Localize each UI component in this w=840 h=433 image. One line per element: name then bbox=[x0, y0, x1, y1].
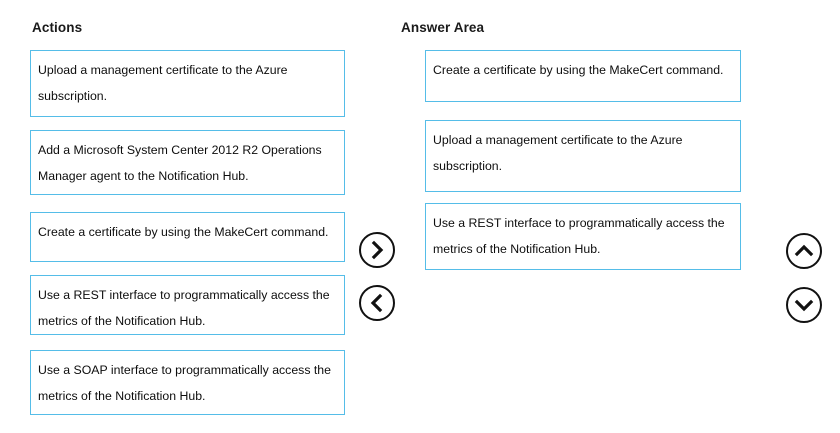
action-text-line: Add a Microsoft System Center 2012 R2 Op… bbox=[38, 137, 337, 163]
answer-rest-interface[interactable]: Use a REST interface to programmatically… bbox=[425, 203, 741, 270]
answer-text-line: subscription. bbox=[433, 153, 733, 179]
move-up-button[interactable] bbox=[786, 233, 822, 269]
actions-panel-heading: Actions bbox=[32, 20, 82, 35]
action-text-line: Upload a management certificate to the A… bbox=[38, 57, 337, 83]
action-text-line: Manager agent to the Notification Hub. bbox=[38, 163, 337, 189]
action-text-line: Use a SOAP interface to programmatically… bbox=[38, 357, 337, 383]
action-text-line: metrics of the Notification Hub. bbox=[38, 308, 337, 334]
answer-text-line: Upload a management certificate to the A… bbox=[433, 127, 733, 153]
action-text-line: subscription. bbox=[38, 83, 337, 109]
chevron-left-icon bbox=[366, 292, 388, 314]
action-text-line: Create a certificate by using the MakeCe… bbox=[38, 219, 337, 245]
answer-text-line: Use a REST interface to programmatically… bbox=[433, 210, 733, 236]
move-right-button[interactable] bbox=[359, 232, 395, 268]
answer-text-line: metrics of the Notification Hub. bbox=[433, 236, 733, 262]
action-text-line: Use a REST interface to programmatically… bbox=[38, 282, 337, 308]
action-rest-interface[interactable]: Use a REST interface to programmatically… bbox=[30, 275, 345, 335]
answer-area-heading: Answer Area bbox=[401, 20, 484, 35]
answer-create-certificate[interactable]: Create a certificate by using the MakeCe… bbox=[425, 50, 741, 102]
move-left-button[interactable] bbox=[359, 285, 395, 321]
action-create-certificate[interactable]: Create a certificate by using the MakeCe… bbox=[30, 212, 345, 262]
action-text-line: metrics of the Notification Hub. bbox=[38, 383, 337, 409]
question-canvas: Actions Answer Area Upload a management … bbox=[0, 0, 840, 433]
answer-upload-certificate[interactable]: Upload a management certificate to the A… bbox=[425, 120, 741, 192]
action-soap-interface[interactable]: Use a SOAP interface to programmatically… bbox=[30, 350, 345, 415]
chevron-up-icon bbox=[793, 240, 815, 262]
chevron-right-icon bbox=[366, 239, 388, 261]
move-down-button[interactable] bbox=[786, 287, 822, 323]
action-add-scom-agent[interactable]: Add a Microsoft System Center 2012 R2 Op… bbox=[30, 130, 345, 195]
chevron-down-icon bbox=[793, 294, 815, 316]
answer-text-line: Create a certificate by using the MakeCe… bbox=[433, 57, 733, 83]
action-upload-certificate[interactable]: Upload a management certificate to the A… bbox=[30, 50, 345, 117]
